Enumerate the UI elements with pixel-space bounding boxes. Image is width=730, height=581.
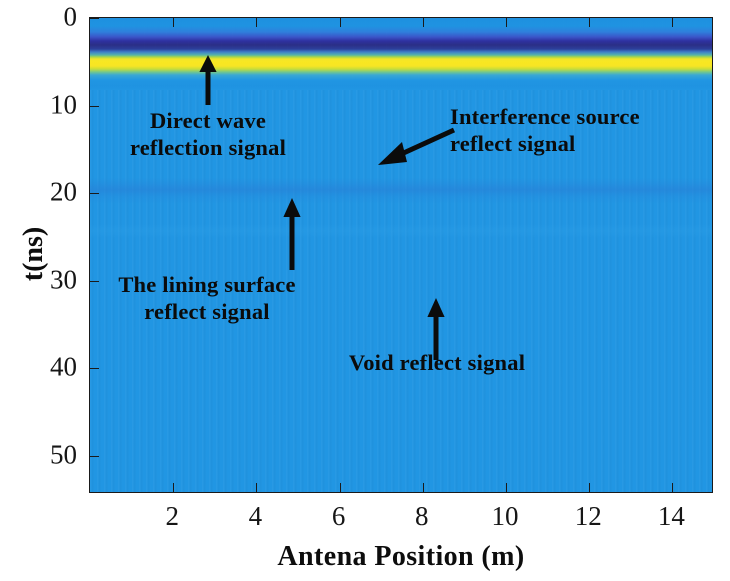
plot-area: Direct wave reflection signal Interferen… <box>89 17 713 493</box>
annotation-interference-source-line2: reflect signal <box>450 131 700 158</box>
annotation-lining-surface: The lining surface reflect signal <box>94 272 320 325</box>
xtick-inner-4 <box>256 483 257 492</box>
xtick-label-8: 8 <box>387 503 457 530</box>
xtick-label-6: 6 <box>304 503 374 530</box>
lining-surface-arrow <box>280 198 304 270</box>
xtick-inner-12 <box>589 483 590 492</box>
xtick-inner-2 <box>173 483 174 492</box>
ytick-inner-10 <box>90 106 99 107</box>
x-axis-title: Antena Position (m) <box>89 541 713 573</box>
xtick-top-2 <box>173 18 174 27</box>
xtick-top-6 <box>340 18 341 27</box>
ytick-inner-40 <box>90 368 99 369</box>
annotation-direct-wave: Direct wave reflection signal <box>108 108 308 161</box>
xtick-label-2: 2 <box>137 503 207 530</box>
xtick-top-8 <box>423 18 424 27</box>
annotation-direct-wave-line2: reflection signal <box>108 135 308 162</box>
interference-source-arrow <box>376 128 456 166</box>
xtick-top-12 <box>589 18 590 27</box>
ytick-inner-20 <box>90 193 99 194</box>
xtick-inner-6 <box>340 483 341 492</box>
annotation-void-reflect: Void reflect signal <box>322 350 552 377</box>
xtick-label-4: 4 <box>220 503 290 530</box>
xtick-inner-10 <box>506 483 507 492</box>
xtick-top-14 <box>672 18 673 27</box>
xtick-label-12: 12 <box>553 503 623 530</box>
ytick-label-50: 50 <box>17 442 77 469</box>
annotation-direct-wave-line1: Direct wave <box>108 108 308 135</box>
radargram-speckle <box>90 18 712 492</box>
xtick-inner-8 <box>423 483 424 492</box>
gpr-radargram-figure: Direct wave reflection signal Interferen… <box>0 0 730 581</box>
annotation-interference-source: Interference source reflect signal <box>450 104 700 157</box>
annotation-void-reflect-line1: Void reflect signal <box>322 350 552 377</box>
xtick-label-14: 14 <box>636 503 706 530</box>
xtick-inner-14 <box>672 483 673 492</box>
ytick-label-0: 0 <box>17 4 77 31</box>
annotation-interference-source-line1: Interference source <box>450 104 700 131</box>
xtick-top-4 <box>256 18 257 27</box>
ytick-label-10: 10 <box>17 91 77 118</box>
annotation-lining-surface-line1: The lining surface <box>94 272 320 299</box>
radargram-image <box>90 18 712 492</box>
y-axis-title: t(ns) <box>18 194 50 314</box>
direct-wave-arrow <box>196 55 220 105</box>
ytick-inner-50 <box>90 456 99 457</box>
xtick-top-10 <box>506 18 507 27</box>
ytick-inner-0 <box>90 18 99 19</box>
annotation-lining-surface-line2: reflect signal <box>94 299 320 326</box>
xtick-label-10: 10 <box>470 503 540 530</box>
ytick-label-40: 40 <box>17 354 77 381</box>
